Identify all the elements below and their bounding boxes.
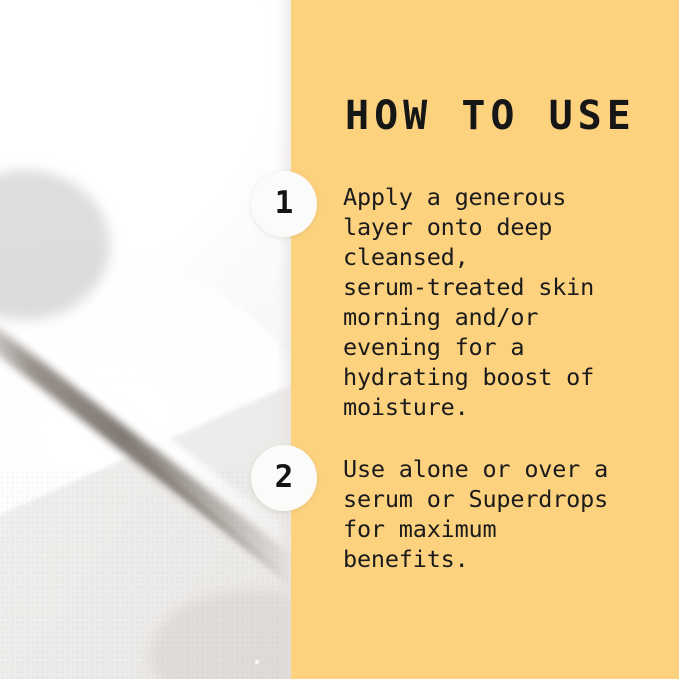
step-2-text: Use alone or over a serum or Superdrops … (343, 454, 643, 574)
cream-swatch-photo (0, 0, 291, 679)
cream-specular-dot-4 (242, 113, 246, 117)
instructions-panel: HOW TO USE Apply a generous layer onto d… (291, 0, 679, 679)
cream-specular-dot-6 (115, 182, 118, 185)
step-2-number: 2 (275, 462, 294, 493)
step-1-text: Apply a generous layer onto deep cleanse… (343, 182, 643, 422)
cream-specular-dot-2 (146, 103, 150, 107)
cream-specular-dot-5 (247, 119, 250, 122)
photo-right-edge-fade (277, 0, 291, 679)
product-instruction-card: HOW TO USE Apply a generous layer onto d… (0, 0, 679, 679)
cream-specular-dot-7 (255, 660, 259, 664)
step-1-number: 1 (275, 188, 294, 219)
page-title: HOW TO USE (345, 96, 636, 136)
step-2-number-badge: 2 (251, 445, 317, 511)
cream-specular-dot-3 (104, 175, 109, 180)
step-1-number-badge: 1 (251, 171, 317, 237)
cream-specular-dot-1 (114, 49, 119, 54)
